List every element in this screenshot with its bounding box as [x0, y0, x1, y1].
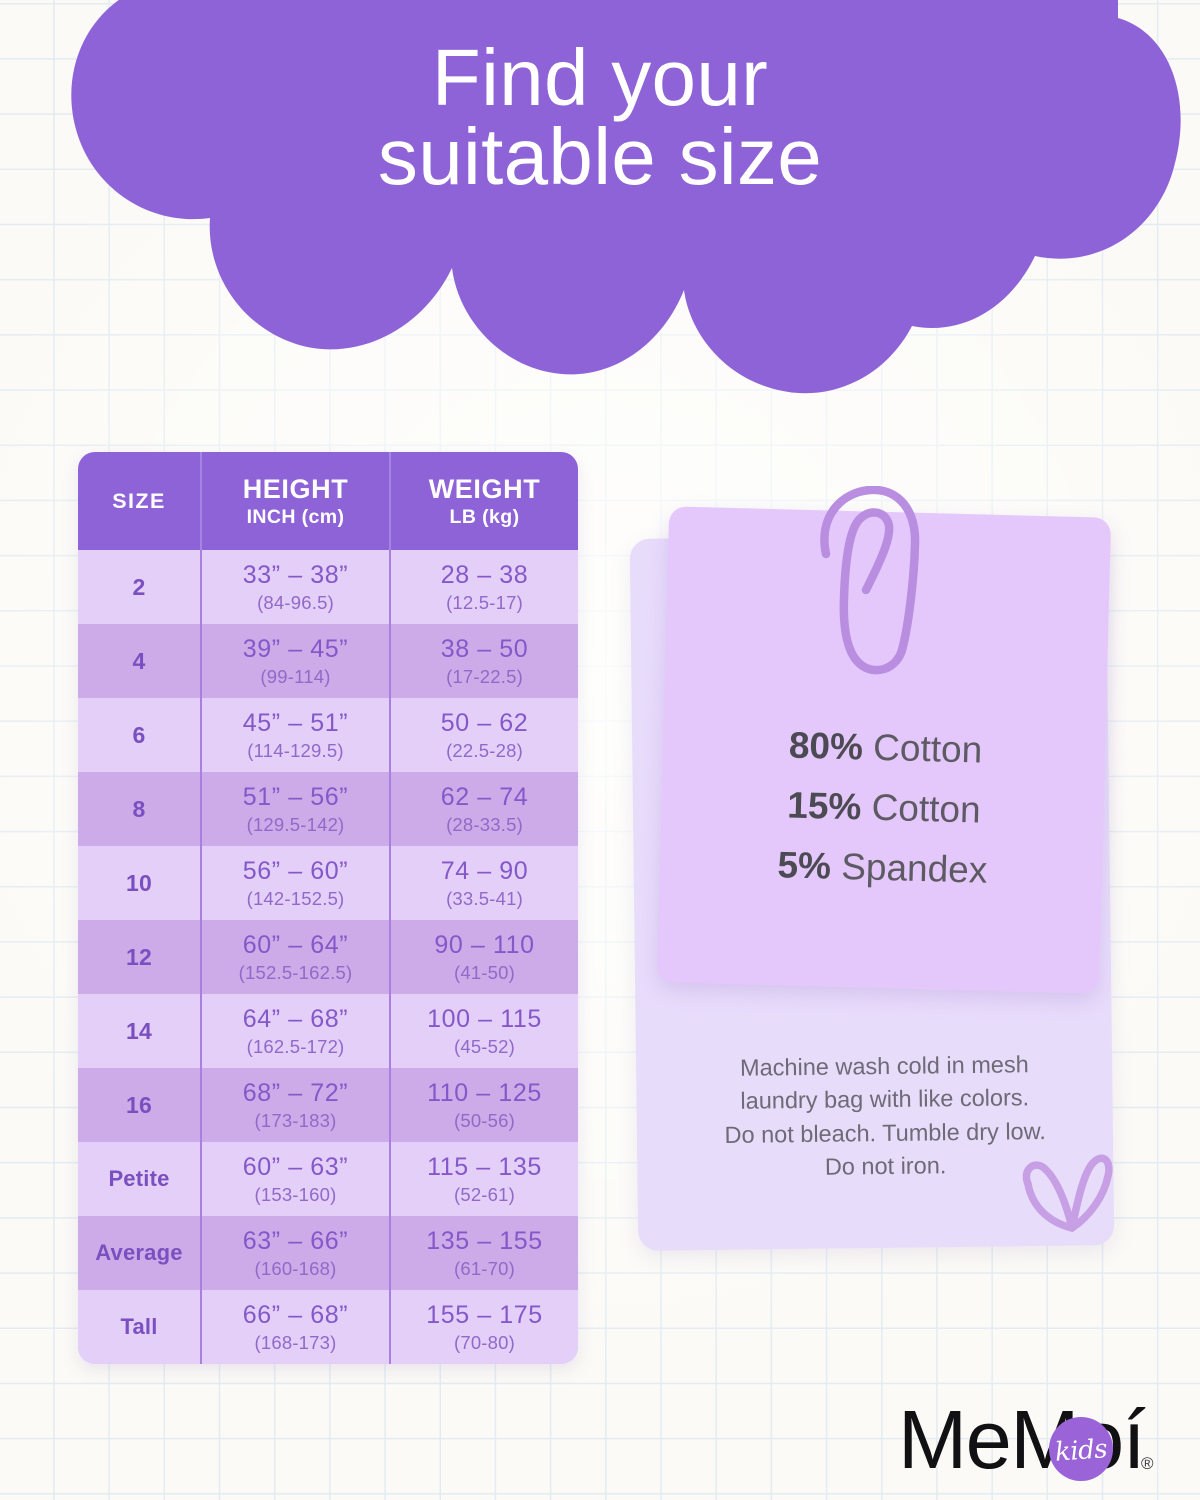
cell-weight: 38 – 50(17-22.5) — [391, 624, 578, 698]
cell-size: 12 — [78, 920, 200, 994]
cell-height: 60” – 63”(153-160) — [200, 1142, 391, 1216]
size-chart-table: SIZE HEIGHT INCH (cm) WEIGHT LB (kg) 2 3… — [78, 452, 578, 1364]
composition-material: Spandex — [841, 846, 988, 891]
cell-height: 45” – 51”(114-129.5) — [200, 698, 391, 772]
logo-kids-label: kids — [1054, 1434, 1108, 1468]
column-header-weight: WEIGHT LB (kg) — [391, 452, 578, 550]
table-row: 16 68” – 72”(173-183) 110 – 125(50-56) — [78, 1068, 578, 1142]
cell-size: Petite — [78, 1142, 200, 1216]
cell-height: 68” – 72”(173-183) — [200, 1068, 391, 1142]
cell-height: 51” – 56”(129.5-142) — [200, 772, 391, 846]
composition-percent: 80% — [788, 724, 863, 767]
table-row: 12 60” – 64”(152.5-162.5) 90 – 110(41-50… — [78, 920, 578, 994]
cell-weight: 115 – 135(52-61) — [391, 1142, 578, 1216]
cell-weight: 74 – 90(33.5-41) — [391, 846, 578, 920]
column-header-size: SIZE — [78, 452, 200, 550]
cell-height: 60” – 64”(152.5-162.5) — [200, 920, 391, 994]
cell-weight: 62 – 74(28-33.5) — [391, 772, 578, 846]
cell-weight: 28 – 38(12.5-17) — [391, 550, 578, 624]
cell-size: 14 — [78, 994, 200, 1068]
cell-height: 56” – 60”(142-152.5) — [200, 846, 391, 920]
brand-logo: MeMoí kids ® — [898, 1392, 1170, 1488]
table-header-row: SIZE HEIGHT INCH (cm) WEIGHT LB (kg) — [78, 452, 578, 550]
table-row: 8 51” – 56”(129.5-142) 62 – 74(28-33.5) — [78, 772, 578, 846]
table-row: 14 64” – 68”(162.5-172) 100 – 115(45-52) — [78, 994, 578, 1068]
cell-size: 10 — [78, 846, 200, 920]
table-row: Average 63” – 66”(160-168) 135 – 155(61-… — [78, 1216, 578, 1290]
cell-weight: 135 – 155(61-70) — [391, 1216, 578, 1290]
page-title: Find your suitable size — [0, 38, 1200, 196]
cell-weight: 110 – 125(50-56) — [391, 1068, 578, 1142]
cell-size: 16 — [78, 1068, 200, 1142]
cell-height: 39” – 45”(99-114) — [200, 624, 391, 698]
table-row: 6 45” – 51”(114-129.5) 50 – 62(22.5-28) — [78, 698, 578, 772]
composition-material: Cotton — [871, 787, 981, 831]
heart-icon — [1008, 1148, 1124, 1252]
cell-weight: 155 – 175(70-80) — [391, 1290, 578, 1364]
cell-size: 6 — [78, 698, 200, 772]
cell-size: 4 — [78, 624, 200, 698]
cell-size: 8 — [78, 772, 200, 846]
cell-size: Tall — [78, 1290, 200, 1364]
cell-height: 64” – 68”(162.5-172) — [200, 994, 391, 1068]
table-row: Tall 66” – 68”(168-173) 155 – 175(70-80) — [78, 1290, 578, 1364]
cell-weight: 100 – 115(45-52) — [391, 994, 578, 1068]
table-row: Petite 60” – 63”(153-160) 115 – 135(52-6… — [78, 1142, 578, 1216]
composition-percent: 15% — [787, 784, 862, 827]
composition-line: 5% Spandex — [661, 832, 1104, 903]
table-row: 10 56” – 60”(142-152.5) 74 – 90(33.5-41) — [78, 846, 578, 920]
table-row: 2 33” – 38”(84-96.5) 28 – 38(12.5-17) — [78, 550, 578, 624]
cell-size: Average — [78, 1216, 200, 1290]
logo-kids-badge: kids — [1049, 1417, 1113, 1481]
composition-material: Cotton — [873, 727, 983, 771]
table-row: 4 39” – 45”(99-114) 38 – 50(17-22.5) — [78, 624, 578, 698]
cell-size: 2 — [78, 550, 200, 624]
paperclip-icon — [804, 486, 954, 676]
composition-percent: 5% — [777, 844, 832, 886]
cell-height: 63” – 66”(160-168) — [200, 1216, 391, 1290]
cell-height: 33” – 38”(84-96.5) — [200, 550, 391, 624]
cell-weight: 90 – 110(41-50) — [391, 920, 578, 994]
column-header-height: HEIGHT INCH (cm) — [200, 452, 391, 550]
registered-trademark-symbol: ® — [1141, 1454, 1154, 1474]
fabric-composition-list: 80% Cotton 15% Cotton 5% Spandex — [661, 712, 1108, 903]
cell-weight: 50 – 62(22.5-28) — [391, 698, 578, 772]
cell-height: 66” – 68”(168-173) — [200, 1290, 391, 1364]
